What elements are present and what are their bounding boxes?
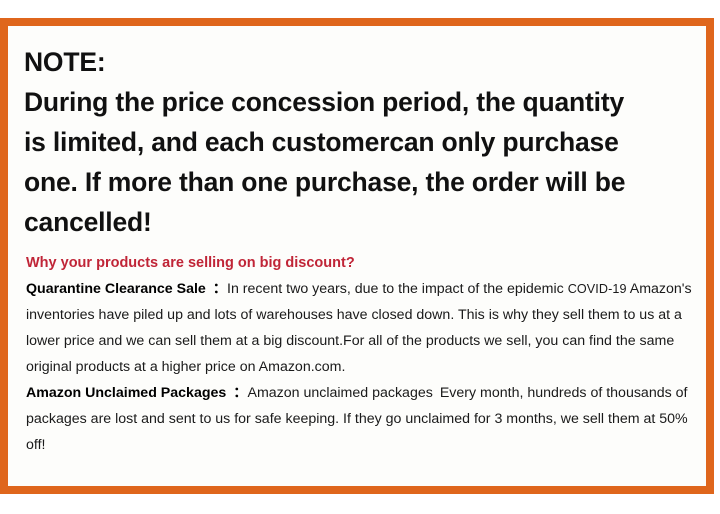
page-root: NOTE: During the price concession period… xyxy=(0,0,720,514)
paragraph-lead-in-unclaimed: Amazon Unclaimed Packages xyxy=(26,385,226,401)
headline-line-5: cancelled! xyxy=(24,202,696,242)
paragraph-colon-unclaimed: ： xyxy=(233,385,247,401)
paragraph-colon-quarantine: ： xyxy=(213,281,227,297)
headline-line-4: one. If more than one purchase, the orde… xyxy=(24,162,696,202)
paragraph-text-unclaimed: Amazon unclaimed packages xyxy=(247,385,432,401)
discount-question-subheading: Why your products are selling on big dis… xyxy=(26,252,696,274)
paragraph-quarantine-clearance-sale: Quarantine Clearance Sale：In recent two … xyxy=(26,276,696,380)
headline-line-1: NOTE: xyxy=(24,42,696,82)
notice-content: NOTE: During the price concession period… xyxy=(8,26,706,486)
headline-block: NOTE: During the price concession period… xyxy=(24,42,696,242)
notice-box: NOTE: During the price concession period… xyxy=(0,18,714,494)
headline-line-3: is limited, and each customercan only pu… xyxy=(24,122,696,162)
paragraph-amazon-unclaimed-packages: Amazon Unclaimed Packages：Amazon unclaim… xyxy=(26,380,696,458)
paragraph-text-before-covid: In recent two years, due to the impact o… xyxy=(227,281,568,297)
headline-line-2: During the price concession period, the … xyxy=(24,82,696,122)
paragraph-lead-in-quarantine: Quarantine Clearance Sale xyxy=(26,281,206,297)
covid-label: COVID-19 xyxy=(568,282,627,296)
